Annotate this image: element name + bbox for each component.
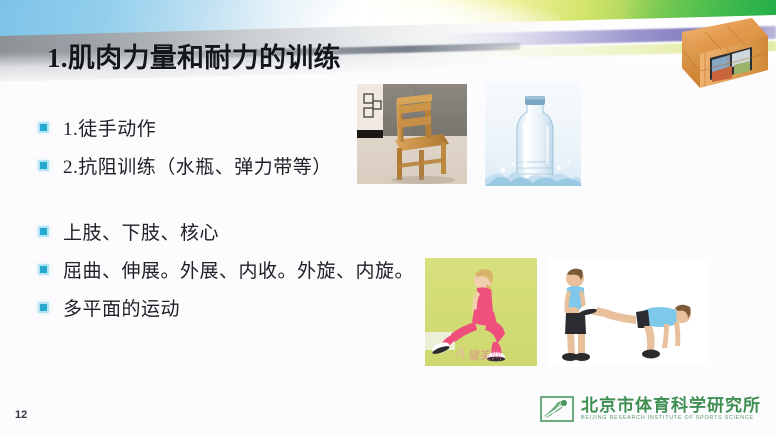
slide-title: 1.肌肉力量和耐力的训练 [47, 36, 341, 75]
wooden-chair-photo [357, 84, 467, 184]
bullet-marker-icon [40, 266, 47, 273]
svg-text:A: A [454, 343, 466, 362]
two-men-exercise-photo [548, 258, 706, 366]
logo-name-cn: 北京市体育科学研究所 [581, 397, 761, 415]
svg-text:健美网: 健美网 [469, 349, 502, 362]
bullet-marker-icon [40, 304, 47, 311]
list-item: 屈曲、伸展。外展、内收。外旋、内旋。 [40, 250, 414, 288]
organization-logo: 北京市体育科学研究所 BEIJING RESEARCH INSTITUTE OF… [540, 396, 761, 422]
bullet-text: 多平面的运动 [63, 294, 180, 321]
institute-emblem-icon [540, 396, 574, 422]
list-item: 1.徒手动作 [40, 108, 332, 146]
bullet-marker-icon [40, 162, 47, 169]
list-item: 多平面的运动 [40, 288, 414, 326]
bullet-text: 屈曲、伸展。外展、内收。外旋、内旋。 [63, 256, 414, 283]
page-number: 12 [15, 409, 27, 421]
cube-graphic [648, 10, 772, 94]
bullet-text: 1.徒手动作 [63, 114, 156, 141]
water-bottle-photo [485, 82, 581, 186]
bullet-text: 2.抗阻训练（水瓶、弹力带等） [63, 152, 332, 179]
list-item: 2.抗阻训练（水瓶、弹力带等） [40, 146, 332, 184]
list-item: 上肢、下肢、核心 [40, 212, 414, 250]
bullet-text: 上肢、下肢、核心 [63, 218, 219, 245]
bullet-group-primary: 1.徒手动作 2.抗阻训练（水瓶、弹力带等） [40, 108, 332, 184]
presentation-slide: 1.肌肉力量和耐力的训练 1.徒手动作 2.抗阻训练（水瓶、弹力带等） 上肢、下… [0, 0, 776, 437]
logo-name-en: BEIJING RESEARCH INSTITUTE OF SPORTS SCI… [581, 415, 761, 421]
woman-lunge-photo: A 健美网 [425, 258, 537, 366]
bullet-marker-icon [40, 228, 47, 235]
bullet-group-secondary: 上肢、下肢、核心 屈曲、伸展。外展、内收。外旋、内旋。 多平面的运动 [40, 212, 414, 326]
bullet-marker-icon [40, 124, 47, 131]
logo-text-block: 北京市体育科学研究所 BEIJING RESEARCH INSTITUTE OF… [581, 397, 761, 422]
